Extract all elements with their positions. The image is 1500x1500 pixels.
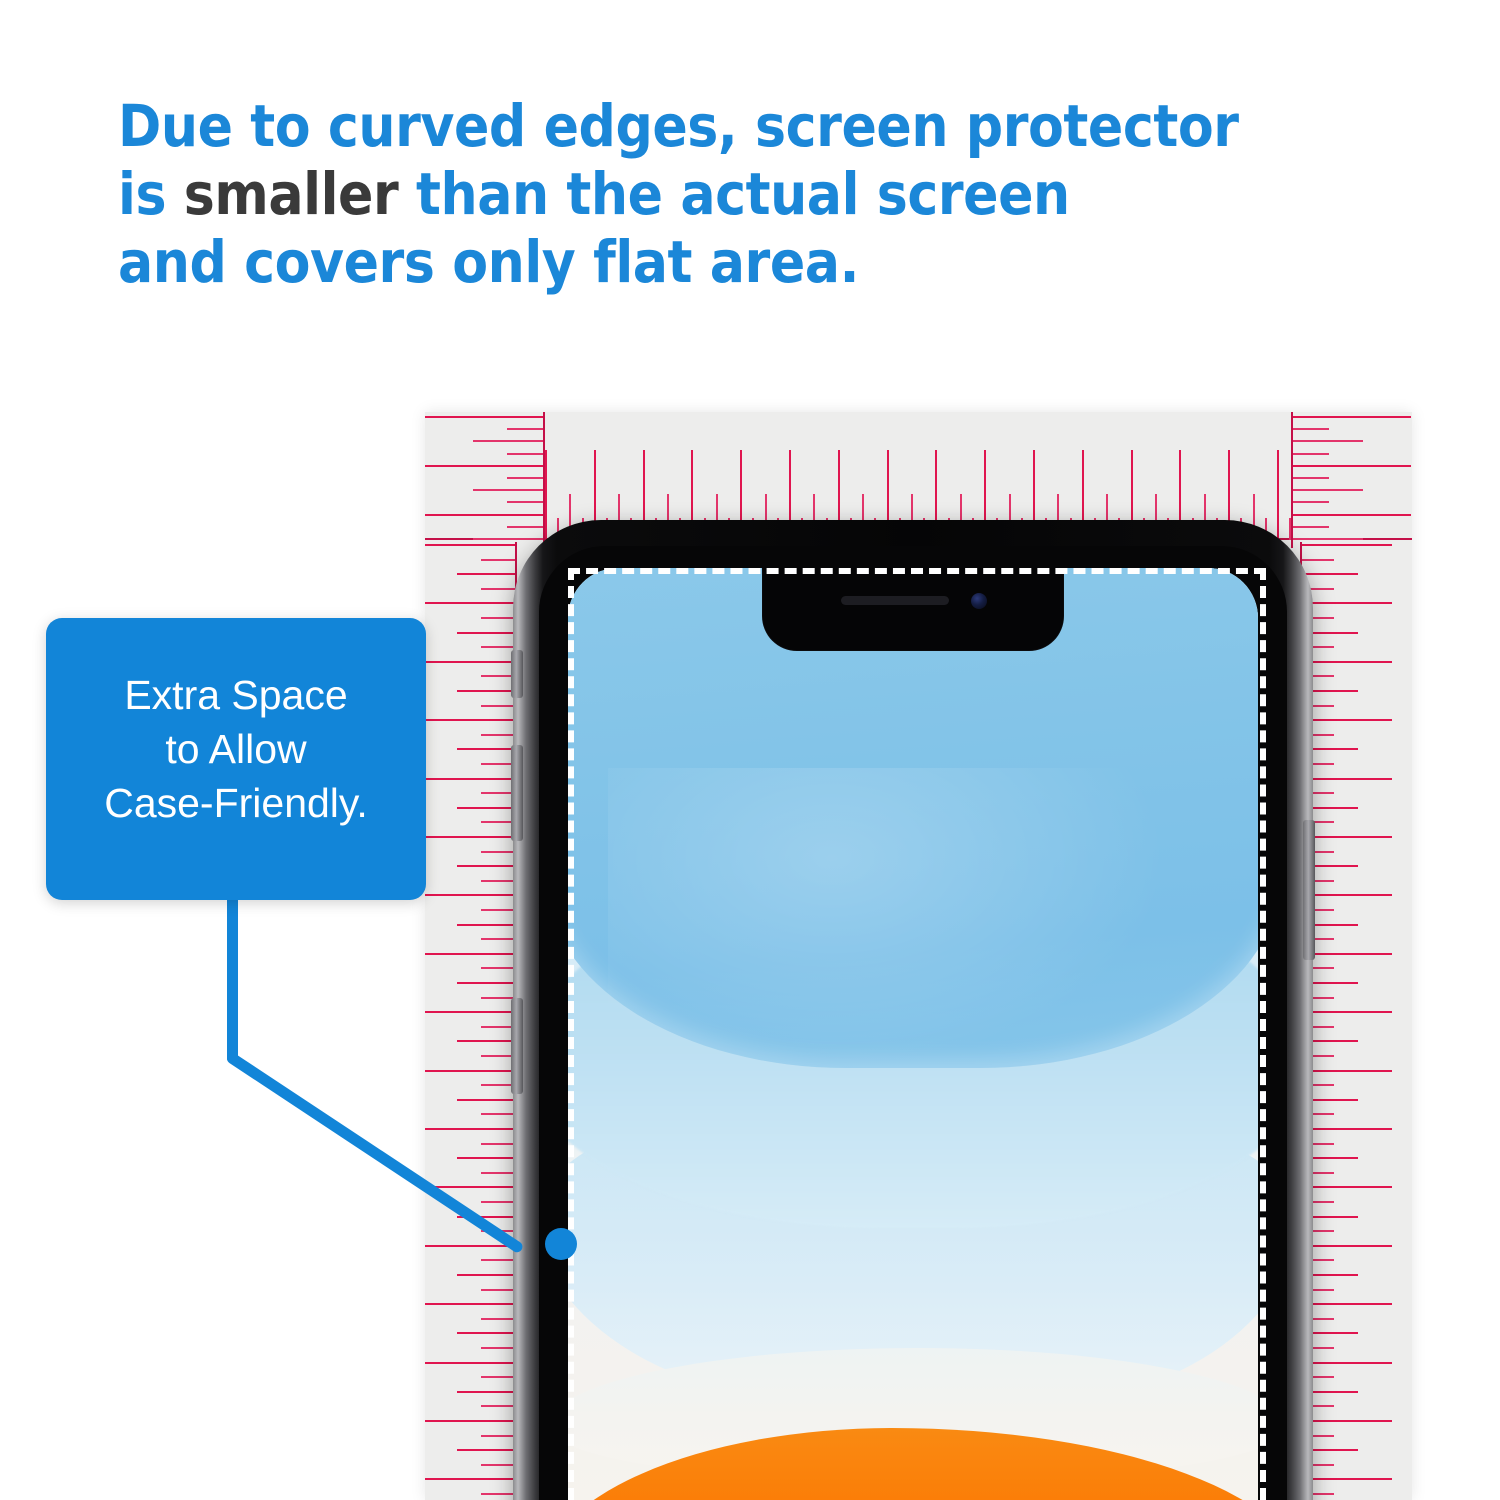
phone-notch — [763, 568, 1063, 650]
headline-line-3: and covers only flat area. — [118, 228, 1234, 296]
side-button-volume-up — [511, 745, 523, 841]
headline-line-2-prefix: is — [118, 160, 184, 228]
callout-extra-space: Extra Space to Allow Case-Friendly. — [46, 618, 426, 900]
infographic-canvas: Due to curved edges, screen protector is… — [0, 0, 1500, 1500]
headline-line-1: Due to curved edges, screen protector — [118, 92, 1234, 160]
earpiece-speaker-icon — [841, 596, 949, 605]
callout-text: Extra Space to Allow Case-Friendly. — [46, 668, 426, 830]
front-camera-icon — [971, 593, 987, 609]
side-button-power — [1303, 820, 1315, 960]
headline-emphasis-smaller: smaller — [184, 160, 398, 228]
phone-device — [513, 520, 1313, 1500]
side-button-volume-down — [511, 998, 523, 1094]
headline-line-2-suffix: than the actual screen — [398, 160, 1069, 228]
wallpaper-sheen — [608, 768, 1168, 1068]
page-title: Due to curved edges, screen protector is… — [118, 92, 1234, 296]
callout-line-1: Extra Space — [46, 668, 426, 722]
callout-line-3: Case-Friendly. — [46, 776, 426, 830]
phone-screen — [568, 568, 1258, 1500]
callout-line-2: to Allow — [46, 722, 426, 776]
callout-anchor-dot — [545, 1228, 577, 1260]
headline-line-2: is smaller than the actual screen — [118, 160, 1234, 228]
side-button-mute-switch — [511, 650, 523, 698]
callout-leader-vertical — [227, 896, 238, 1062]
